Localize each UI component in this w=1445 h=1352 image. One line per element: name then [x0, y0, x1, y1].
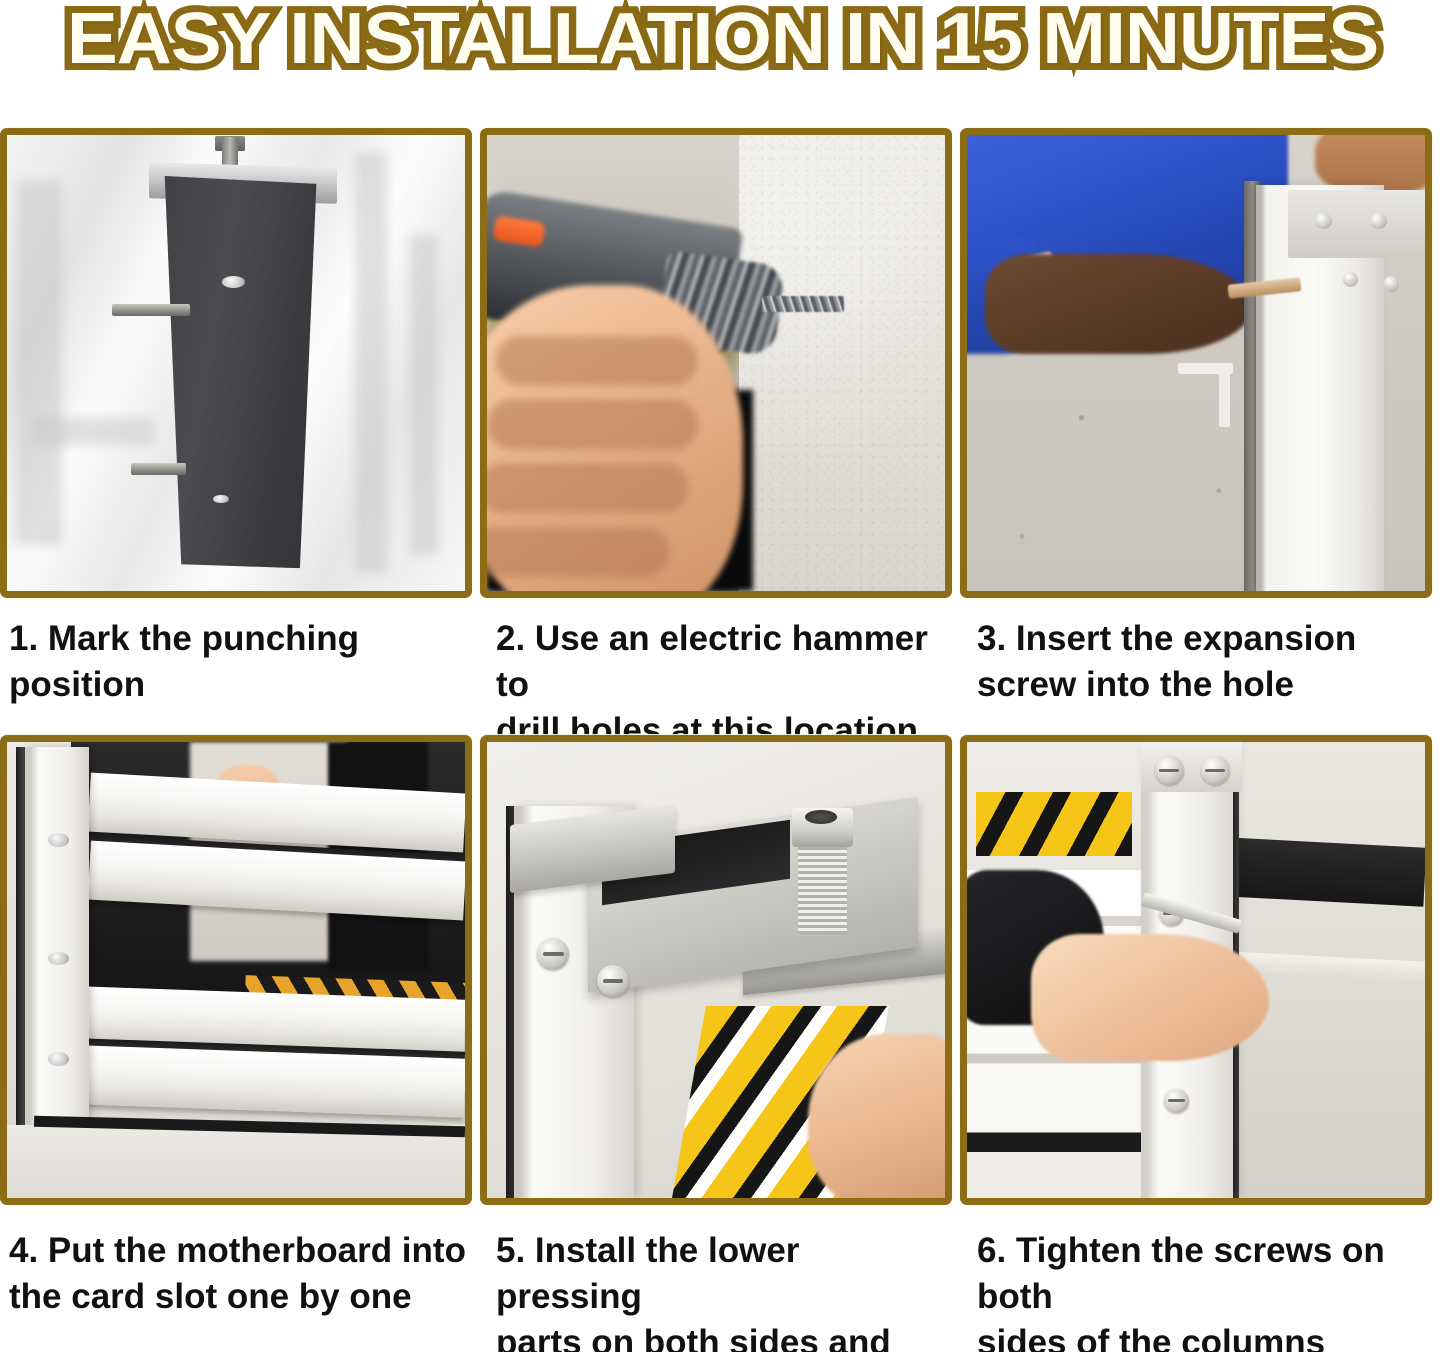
installation-guide-page: EASY INSTALLATION IN 15 MINUTES [0, 0, 1445, 1352]
step-3-caption: 3. Insert the expansion screw into the h… [960, 610, 1445, 708]
allen-key-shaft [1219, 363, 1230, 427]
dark-column-body [158, 176, 323, 568]
column-screw [1384, 276, 1400, 292]
step-4-photo-cell [0, 735, 480, 1222]
step-2-photo-cell [480, 128, 960, 610]
cloth-fold [410, 235, 437, 554]
column-screw [1370, 213, 1386, 229]
page-title-text: EASY INSTALLATION IN 15 MINUTES [67, 2, 1378, 76]
step-3-scene [967, 135, 1425, 591]
step-2-caption-cell: 2. Use an electric hammer to drill holes… [480, 610, 960, 735]
step-1-scene [7, 135, 465, 591]
step-1-caption: 1. Mark the punching position [0, 610, 480, 708]
step-3-photo-cell [960, 128, 1445, 610]
step-4-caption: 4. Put the motherboard into the card slo… [0, 1222, 480, 1320]
step-1-photo [0, 128, 472, 598]
column-hole [48, 1052, 69, 1066]
cloth-fold [34, 418, 153, 445]
white-column-with-slots [25, 747, 89, 1148]
step-4-photo [0, 735, 472, 1205]
finger [487, 527, 670, 577]
column-screw [1155, 756, 1184, 785]
hazard-stripe-tape [976, 792, 1132, 856]
step-5-caption-cell: 5. Install the lower pressing parts on b… [480, 1222, 960, 1352]
step-5-photo [480, 735, 952, 1205]
column-top-plate [1288, 190, 1425, 258]
cloth-fold [16, 181, 62, 546]
expansion-stud-lower [131, 463, 186, 475]
cloth-fold [355, 153, 387, 573]
step-2-caption: 2. Use an electric hammer to drill holes… [480, 610, 960, 754]
step-1-photo-cell [0, 128, 480, 610]
page-title: EASY INSTALLATION IN 15 MINUTES [0, 0, 1445, 122]
finger [496, 336, 698, 386]
steps-grid: 1. Mark the punching position 2. Use an … [0, 128, 1445, 1352]
worker-forearm [985, 254, 1251, 354]
finger [487, 463, 689, 513]
step-6-caption: 6. Tighten the screws on both sides of t… [960, 1222, 1445, 1352]
drill-bit [762, 296, 844, 312]
expansion-stud-upper [112, 304, 190, 316]
white-wall-surface [739, 135, 945, 591]
step-2-photo [480, 128, 952, 598]
step-5-scene [487, 742, 945, 1198]
step-4-caption-cell: 4. Put the motherboard into the card slo… [0, 1222, 480, 1352]
step-5-caption: 5. Install the lower pressing parts on b… [480, 1222, 960, 1352]
step-3-caption-cell: 3. Insert the expansion screw into the h… [960, 610, 1445, 735]
step-5-photo-cell [480, 735, 960, 1222]
step-3-photo [960, 128, 1432, 598]
step-6-photo-cell [960, 735, 1445, 1222]
step-2-scene [487, 135, 945, 591]
column-screw [1201, 756, 1230, 785]
installer-hand [1031, 934, 1269, 1062]
column-hole [48, 833, 69, 847]
finger [487, 399, 698, 449]
step-6-photo [960, 735, 1432, 1205]
step-4-scene [7, 742, 465, 1198]
floor [7, 1125, 465, 1198]
step-1-caption-cell: 1. Mark the punching position [0, 610, 480, 735]
step-6-scene [967, 742, 1425, 1198]
step-6-caption-cell: 6. Tighten the screws on both sides of t… [960, 1222, 1445, 1352]
column-screw [1164, 1089, 1189, 1114]
column-screw [1315, 213, 1331, 229]
